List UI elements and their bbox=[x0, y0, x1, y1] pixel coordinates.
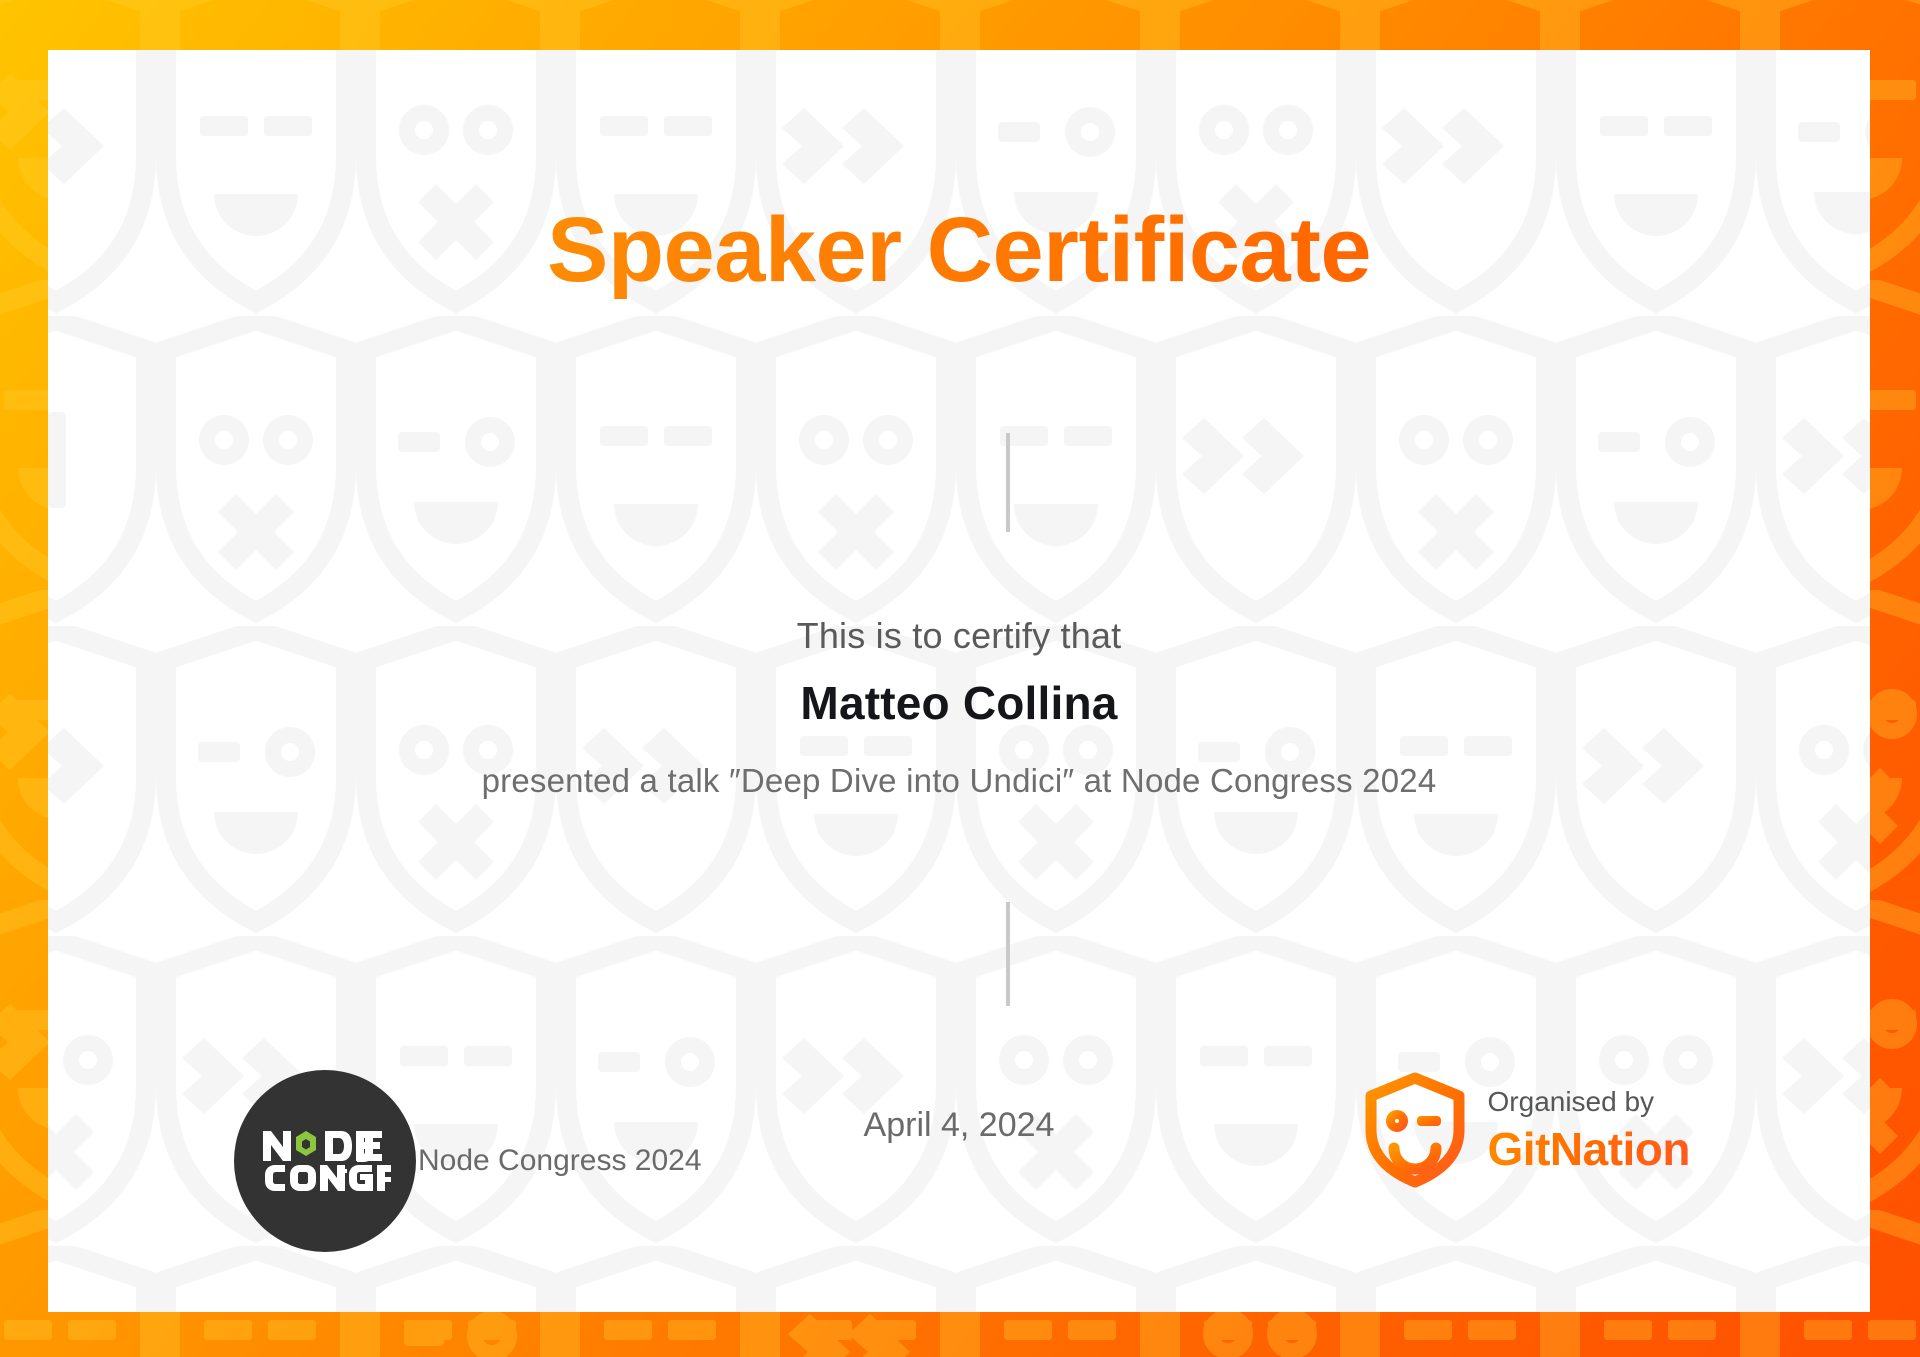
gitnation-shield-face-icon bbox=[1364, 1072, 1466, 1188]
organiser-wordmark: GitNation bbox=[1488, 1126, 1690, 1172]
recipient-name: Matteo Collina bbox=[48, 676, 1870, 730]
organised-by-label: Organised by bbox=[1488, 1088, 1690, 1116]
page-title: Speaker Certificate bbox=[48, 202, 1870, 299]
divider-top bbox=[1006, 433, 1010, 532]
nodejs-congress-logo-icon bbox=[234, 1070, 416, 1252]
organiser-branding: Organised by GitNation bbox=[1364, 1072, 1690, 1188]
certificate-frame: Speaker Certificate This is to certify t… bbox=[0, 0, 1920, 1357]
talk-description: presented a talk ″Deep Dive into Undici″… bbox=[48, 762, 1870, 800]
event-caption: Node Congress 2024 bbox=[418, 1144, 702, 1178]
event-branding: Node Congress 2024 bbox=[234, 1070, 702, 1252]
certificate-card: Speaker Certificate This is to certify t… bbox=[48, 50, 1870, 1312]
certify-line: This is to certify that bbox=[48, 615, 1870, 657]
divider-bottom bbox=[1006, 902, 1010, 1006]
